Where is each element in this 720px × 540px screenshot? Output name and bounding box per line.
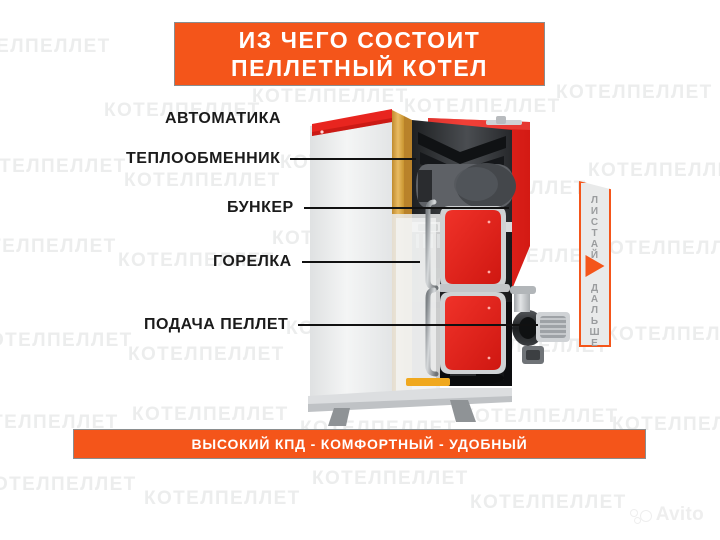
swipe-label-bottom: ДАЛЬШЕ: [579, 283, 611, 349]
swipe-letter: Т: [579, 228, 611, 239]
triangle-right-icon: [586, 255, 605, 277]
callout-1: АВТОМАТИКА: [165, 108, 281, 130]
watermark-text: КОТЕЛПЕЛЛЕТ: [0, 156, 127, 178]
swipe-letter: А: [579, 239, 611, 250]
swipe-letter: Ь: [579, 316, 611, 327]
watermark-text: КОТЕЛПЕЛЛЕТ: [596, 238, 720, 260]
callout-label: АВТОМАТИКА: [165, 110, 281, 128]
avito-dots-icon: [630, 506, 652, 524]
callout-leader-line: [290, 158, 416, 160]
watermark-text: КОТЕЛПЕЛЛЕТ: [128, 344, 285, 366]
watermark-text: КОТЕЛПЕЛЛЕТ: [0, 330, 133, 352]
callout-label: ПОДАЧА ПЕЛЛЕТ: [144, 316, 288, 334]
watermark-text: КОТЕЛПЕЛЛЕТ: [470, 492, 627, 514]
watermark-text: КОТЕЛПЕЛЛЕТ: [124, 170, 281, 192]
swipe-letter: Л: [579, 195, 611, 206]
title-line-1: ИЗ ЧЕГО СОСТОИТ: [239, 26, 481, 54]
callout-label: БУНКЕР: [227, 199, 294, 217]
swipe-letter: И: [579, 206, 611, 217]
watermark-text: КОТЕЛПЕЛЛЕТ: [0, 474, 137, 496]
bottom-banner: ВЫСОКИЙ КПД - КОМФОРТНЫЙ - УДОБНЫЙ: [73, 429, 646, 459]
swipe-letter: Л: [579, 305, 611, 316]
watermark-text: КОТЕЛПЕЛЛЕТ: [0, 236, 117, 258]
callout-leader-line: [304, 207, 509, 209]
title-banner: ИЗ ЧЕГО СОСТОИТ ПЕЛЛЕТНЫЙ КОТЕЛ: [174, 22, 545, 86]
callout-3: БУНКЕР: [227, 197, 509, 219]
watermark-text: КОТЕЛПЕЛЛЕТ: [588, 160, 720, 182]
bottom-banner-text: ВЫСОКИЙ КПД - КОМФОРТНЫЙ - УДОБНЫЙ: [191, 436, 527, 452]
swipe-letter: Ш: [579, 327, 611, 338]
watermark-text: КОТЕЛПЕЛЛЕТ: [0, 36, 111, 58]
callout-4: ГОРЕЛКА: [213, 251, 420, 273]
swipe-label-top: ЛИСТАЙ: [579, 195, 611, 261]
callout-label: ГОРЕЛКА: [213, 253, 292, 271]
image-canvas: КОТЕЛПЕЛЛЕТКОТЕЛПЕЛЛЕТКОТЕЛПЕЛЛЕТКОТЕЛПЕ…: [0, 0, 720, 540]
swipe-next-banner[interactable]: ЛИСТАЙ ДАЛЬШЕ: [579, 181, 611, 347]
callout-leader-line: [298, 324, 538, 326]
watermark-text: КОТЕЛПЕЛЛЕТ: [132, 404, 289, 426]
callout-leader-line: [302, 261, 420, 263]
swipe-letter: Д: [579, 283, 611, 294]
avito-wordmark: Avito: [656, 504, 704, 526]
watermark-text: КОТЕЛПЕЛЛЕТ: [312, 468, 469, 490]
callout-2: ТЕПЛООБМЕННИК: [126, 148, 416, 170]
callout-label: ТЕПЛООБМЕННИК: [126, 150, 280, 168]
callout-5: ПОДАЧА ПЕЛЛЕТ: [144, 314, 538, 336]
title-line-2: ПЕЛЛЕТНЫЙ КОТЕЛ: [231, 54, 488, 82]
swipe-letter: Е: [579, 338, 611, 349]
swipe-letter: С: [579, 217, 611, 228]
watermark-text: КОТЕЛПЕЛЛЕТ: [144, 488, 301, 510]
swipe-letter: А: [579, 294, 611, 305]
avito-watermark: Avito: [630, 504, 704, 526]
watermark-text: КОТЕЛПЕЛЛЕТ: [606, 324, 720, 346]
